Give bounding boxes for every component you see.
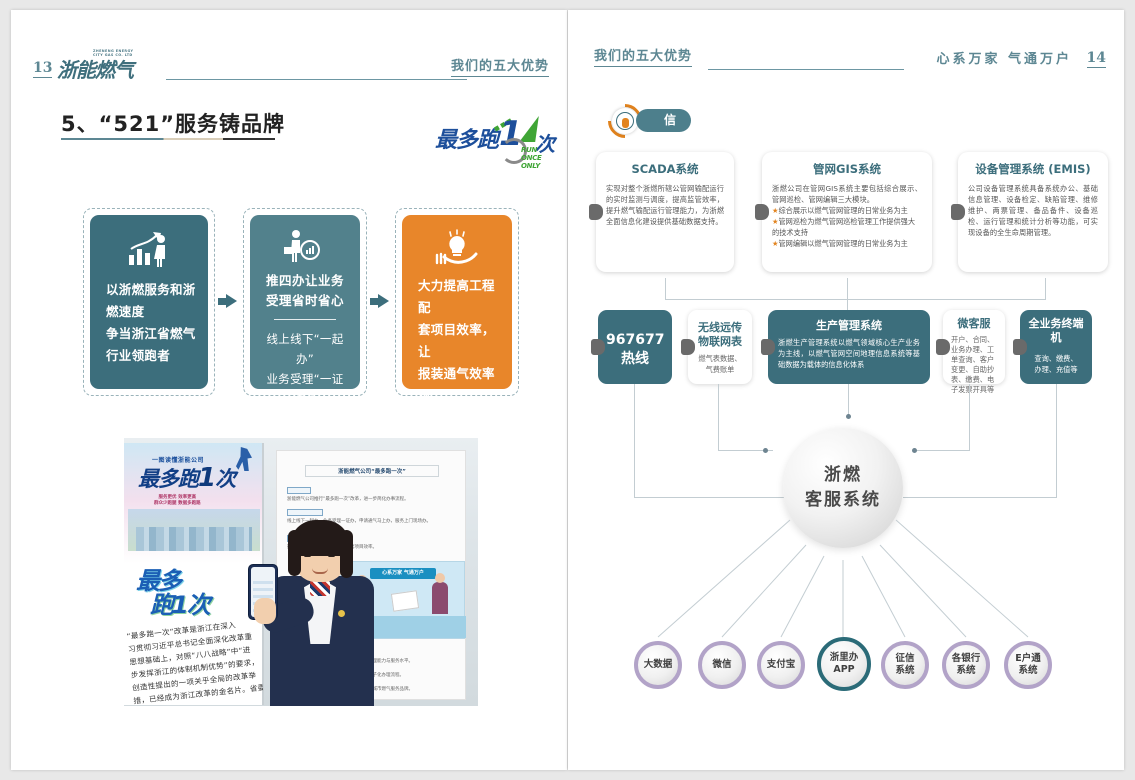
box-tab-icon (761, 339, 775, 355)
node-ehutong-system: E户通 系统 (1004, 641, 1052, 689)
wechat-service-sub: 开户、合同、业务办理、工单查询、客户变更、自助抄表、缴费、电子发票开具等 (951, 335, 997, 395)
card-bullet: ★管网编辑以燃气管网管理的日常业务为主 (772, 238, 922, 249)
node-label: 大数据 (644, 659, 673, 671)
photo-banner-big-title: 最多 跑1次 (132, 559, 256, 617)
node-zheliban-app: 浙里办 APP (817, 637, 871, 691)
run-once-subtext: RUNONCE ONLY (521, 146, 555, 170)
box-tab-icon (1013, 339, 1027, 355)
person-hair-left (288, 530, 301, 576)
connector-dot-right (912, 448, 917, 453)
promotional-photo: 浙能燃气公司“最多跑一次” 浙能燃气公司推行“最多跑一次”改革，进一步简化办事流… (124, 438, 478, 706)
card-body: 实现对整个浙燃所辖公管网输配运行的实时监测与调度，提高监管效率，提升燃气输配运行… (606, 183, 724, 227)
hotline-label: 热线 (606, 350, 664, 369)
node-credit-system: 征信 系统 (881, 641, 929, 689)
card-tab-icon (951, 204, 965, 220)
connector-wechat-center (915, 450, 970, 451)
badge-label: 信息化提升服务能力 (636, 109, 691, 132)
left-header-title: 我们的五大优势 (451, 55, 549, 77)
advantage-box-2-divider (274, 319, 336, 320)
connector-scada-down (665, 278, 666, 300)
mid-box-wechat-service: 微客服 开户、合同、业务办理、工单查询、客户变更、自助抄表、缴费、电子发票开具等 (943, 310, 1005, 384)
card-tab-icon (589, 204, 603, 220)
connector-production-down (848, 384, 849, 416)
connector-hotline-center (634, 497, 784, 498)
card-tab-icon (755, 204, 769, 220)
bar-chart-person-icon (102, 229, 196, 273)
left-page-header: 13 ZHENENG ENERGYCITY GAS CO. LTD 浙能燃气 我… (11, 48, 567, 80)
box-tab-icon (936, 339, 950, 355)
mid-box-hotline: 967677 热线 (598, 310, 672, 384)
connector-gis-down (847, 278, 848, 310)
photo-panel-tag-2 (287, 509, 323, 516)
node-wechat: 微信 (698, 641, 746, 689)
arrow-1-head (226, 294, 237, 308)
terminal-title: 全业务终端机 (1028, 317, 1084, 345)
left-page: 13 ZHENENG ENERGYCITY GAS CO. LTD 浙能燃气 我… (11, 10, 567, 770)
person-hair-right (340, 530, 353, 578)
center-node-customer-service: 浙燃 客服系统 (783, 428, 903, 548)
node-label-secondary: APP (833, 664, 854, 676)
advantage-box-2-heading: 推四办让业务 受理省时省心 (262, 271, 348, 311)
logo-chinese-text: 浙能燃气 (57, 54, 133, 83)
box-tab-icon (681, 339, 695, 355)
center-node-line2: 客服系统 (805, 488, 881, 513)
node-label-secondary: 系统 (1018, 665, 1037, 677)
left-header-rule (166, 79, 467, 80)
advantage-box-3: 大力提高工程配 套项目效率，让 报装通气效率更 高，着力优化营 商环境 (402, 215, 512, 389)
system-card-emis: 设备管理系统 (EMIS) 公司设备管理系统具备系统办公、基础信息管理、设备检定… (958, 152, 1108, 272)
section-underline-dark (223, 138, 275, 140)
photo-standing-banner: 一图读懂浙能公司 最多跑1次 服务更优 效率更高群众少跑腿 数据多跑路 最多 跑… (124, 443, 264, 705)
node-alipay: 支付宝 (757, 641, 805, 689)
card-title: SCADA系统 (606, 161, 724, 177)
right-header-slogan: 心系万家 气通万户 (936, 48, 1072, 67)
advantage-box-1-text: 以浙燃服务和浙 燃速度 争当浙江省燃气 行业领跑者 (102, 279, 196, 367)
card-title: 管网GIS系统 (772, 161, 922, 177)
connector-emis-down (1045, 278, 1046, 300)
connector-terminal-center (903, 497, 1057, 498)
node-banks-system: 各银行 系统 (942, 641, 990, 689)
photo-banner-article: “最多跑一次”改革是浙江在深入 习贯彻习近平总书记全面深化改革重 思想基础上，对… (126, 616, 264, 706)
run-once-main-text: 最多跑 (435, 122, 498, 154)
card-bullet: ★综合展示以燃气管网管理的日常业务为主 (772, 205, 922, 216)
card-bullet: ★管网巡检为燃气管网巡检管理工作提供强大的技术支持 (772, 216, 922, 238)
connector-terminal-down (1056, 384, 1057, 498)
right-header-title: 我们的五大优势 (594, 45, 692, 67)
advantage-box-2: 推四办让业务 受理省时省心 线上线下“一起办” 业务受理“一证办” 申请通气“马… (250, 215, 360, 389)
node-label-secondary: 系统 (895, 665, 914, 677)
arrow-1-stem (218, 298, 226, 305)
person-hand (254, 598, 276, 624)
photo-panel-row-1: 浙能燃气公司推行“最多跑一次”改革，进一步简化办事流程。 (287, 497, 457, 503)
photo-panel-title: 浙能燃气公司“最多跑一次” (305, 465, 439, 477)
connector-dot-top (846, 414, 851, 419)
node-label: 微信 (712, 659, 731, 671)
connector-dot-left (763, 448, 768, 453)
connector-hotline-down (634, 384, 635, 498)
photo-banner-runner-icon (236, 447, 252, 471)
center-node-line1: 浙燃 (824, 463, 862, 488)
photo-panel-tag-1 (287, 487, 311, 494)
right-page-number: 14 (1087, 50, 1106, 68)
connector-horizontal (665, 299, 1045, 300)
photo-staff-person (264, 524, 380, 706)
system-card-gis: 管网GIS系统 浙燃公司在管网GIS系统主要包括综合展示、管网巡检、管网编辑三大… (762, 152, 932, 272)
node-label: 征信 (895, 653, 914, 665)
mid-box-terminal: 全业务终端机 查询、缴费、 办理、充值等 (1020, 310, 1092, 384)
wechat-service-title: 微客服 (951, 317, 997, 331)
arrow-2-head (378, 294, 389, 308)
magazine-spread: 13 ZHENENG ENERGYCITY GAS CO. LTD 浙能燃气 我… (0, 0, 1135, 780)
photo-banner-title: 最多跑1次 (138, 463, 235, 493)
card-title: 设备管理系统 (EMIS) (968, 161, 1098, 177)
person-scarf (310, 580, 330, 596)
node-label: 浙里办 (830, 652, 859, 664)
node-label-secondary: 系统 (956, 665, 975, 677)
iot-meter-title-line2: 物联网表 (696, 335, 744, 349)
node-label: 支付宝 (767, 659, 796, 671)
card-body: 浙燃公司在管网GIS系统主要包括综合展示、管网巡检、管网编辑三大模块。 (772, 183, 922, 205)
right-page-header: 我们的五大优势 心系万家 气通万户 14 (568, 38, 1124, 70)
terminal-sub: 查询、缴费、 办理、充值等 (1028, 353, 1084, 375)
connector-iot-down (718, 384, 719, 451)
right-header-rule (708, 69, 904, 70)
card-body: 公司设备管理系统具备系统办公、基础信息管理、设备检定、缺陷管理、维修维护、两票管… (968, 183, 1098, 238)
person-badge (338, 610, 345, 617)
photo-panel-person-2 (432, 582, 448, 614)
lightbulb-hand-icon (414, 229, 500, 269)
connector-wechat-down (969, 384, 970, 451)
production-sub: 浙燃生产管理系统以燃气领域核心生产业务为主线，以燃气管网空间地理信息系统等基础数… (776, 337, 922, 370)
arrow-2-stem (370, 298, 378, 305)
box-tab-icon (591, 339, 605, 355)
photo-banner-subtitle: 服务更优 效率更高群众少跑腿 数据多跑路 (154, 495, 201, 507)
service-counter-icon (262, 229, 348, 265)
iot-meter-title-line1: 无线远传 (696, 321, 744, 335)
node-big-data: 大数据 (634, 641, 682, 689)
photo-banner-big-line2: 跑1次 (150, 585, 209, 620)
run-once-logo: 最多跑 ▪▪▪ 1 次 RUNONCE ONLY (435, 112, 555, 166)
production-title: 生产管理系统 (776, 319, 922, 333)
node-label: 各银行 (952, 653, 981, 665)
mid-box-iot-meter: 无线远传 物联网表 燃气表数据、 气费账单 (688, 310, 752, 384)
left-page-number: 13 (33, 60, 52, 78)
system-card-scada: SCADA系统 实现对整个浙燃所辖公管网输配运行的实时监测与调度，提高监管效率，… (596, 152, 734, 272)
node-label: E户通 (1015, 653, 1041, 665)
advantage-box-1: 以浙燃服务和浙 燃速度 争当浙江省燃气 行业领跑者 (90, 215, 208, 389)
hotline-number: 967677 (606, 331, 664, 350)
section-title: 5、“521”服务铸品牌 (61, 108, 285, 138)
mid-box-production: 生产管理系统 浙燃生产管理系统以燃气领域核心生产业务为主线，以燃气管网空间地理信… (768, 310, 930, 384)
photo-panel-paper (391, 590, 419, 611)
target-hand-icon (616, 112, 634, 130)
iot-meter-sub: 燃气表数据、 气费账单 (696, 353, 744, 375)
company-logo: ZHENENG ENERGYCITY GAS CO. LTD 浙能燃气 (57, 49, 167, 79)
photo-banner-cityscape (128, 509, 260, 551)
